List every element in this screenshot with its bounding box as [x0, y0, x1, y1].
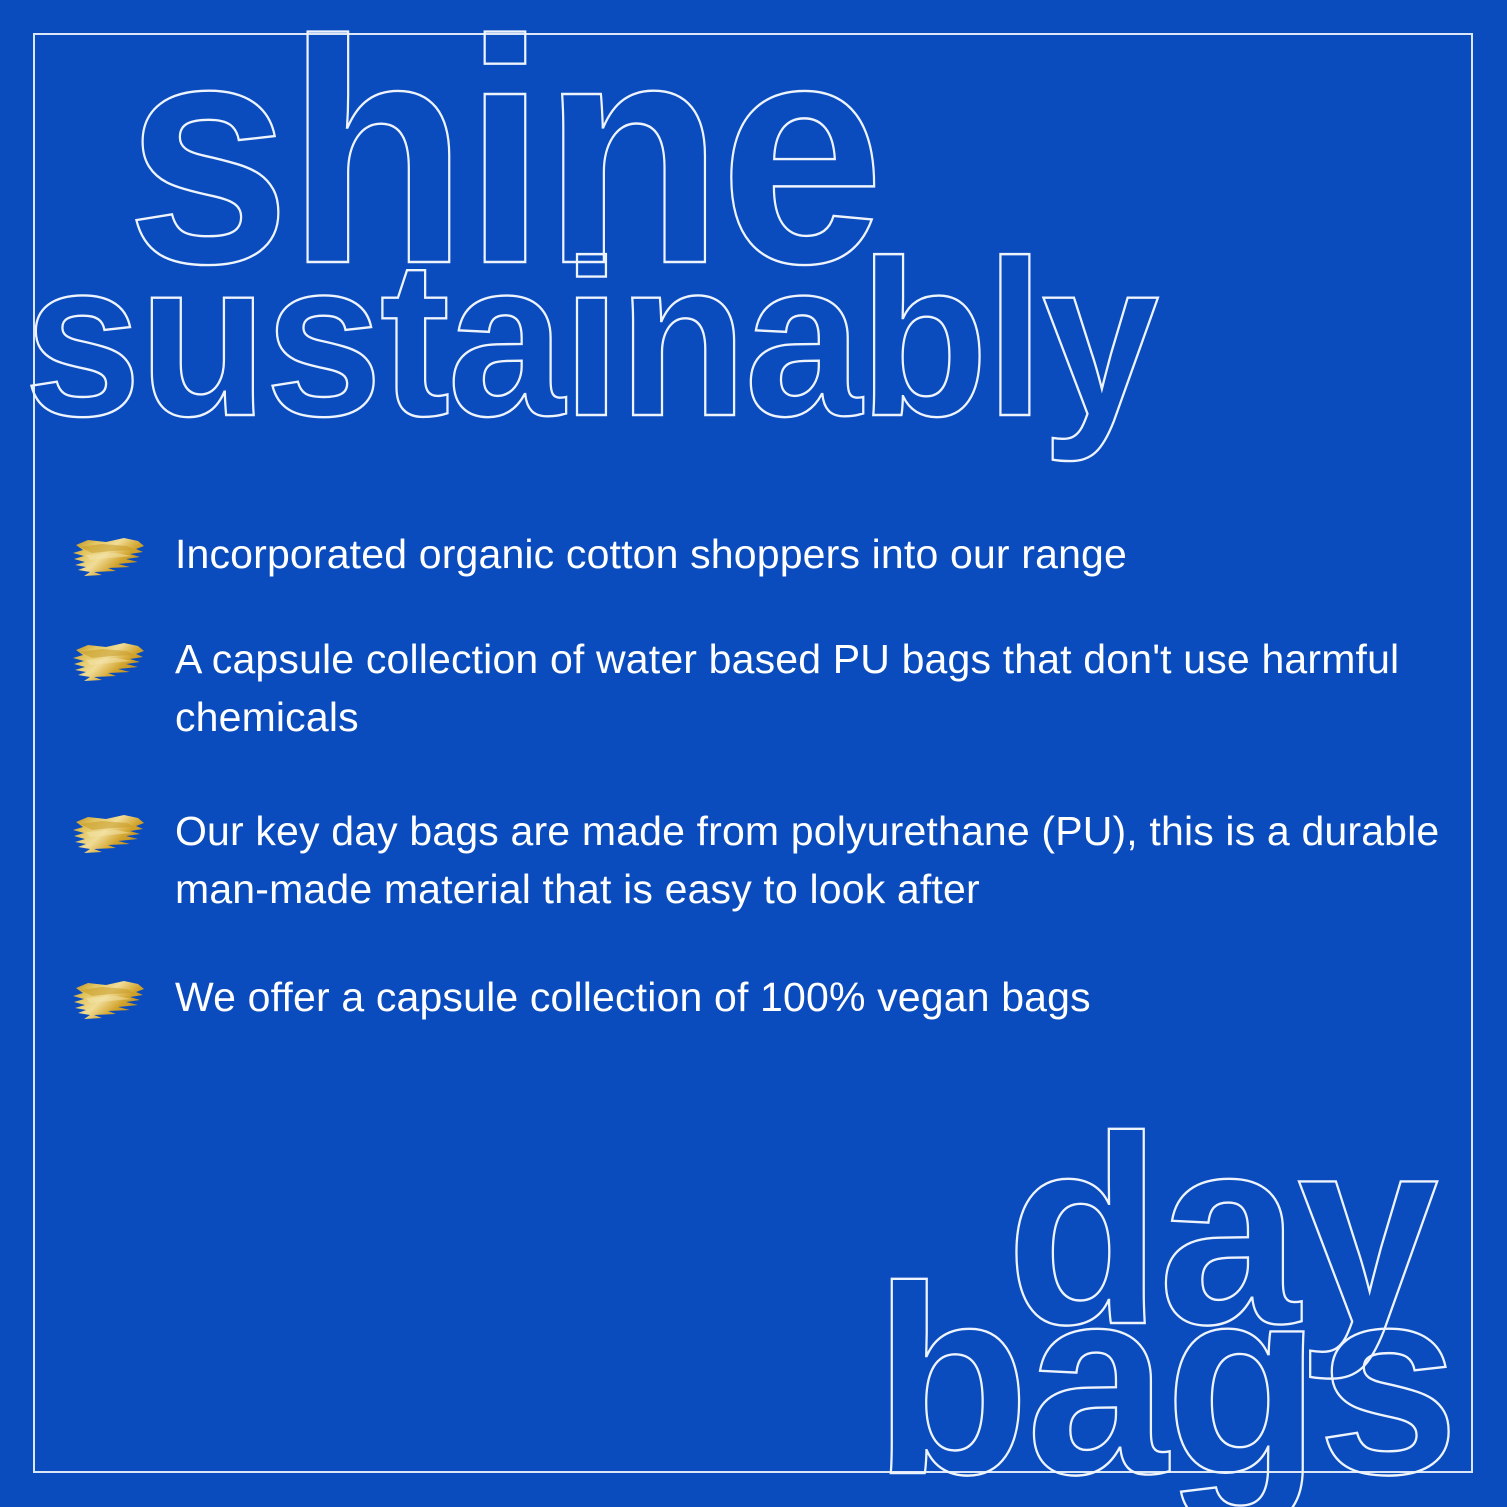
- headline-line-sustainably: sustainably: [24, 228, 1157, 450]
- list-item: We offer a capsule collection of 100% ve…: [72, 968, 1452, 1026]
- list-item-label: A capsule collection of water based PU b…: [175, 630, 1445, 746]
- list-item-label: Our key day bags are made from polyureth…: [175, 802, 1445, 918]
- sustainability-poster: shine sustainably: [0, 0, 1507, 1507]
- footer-headline-line-bags: bags: [874, 1246, 1456, 1507]
- gold-brush-stroke-icon: [72, 535, 148, 581]
- list-item-label: We offer a capsule collection of 100% ve…: [175, 968, 1091, 1026]
- list-item: Our key day bags are made from polyureth…: [72, 802, 1452, 918]
- list-item: Incorporated organic cotton shoppers int…: [72, 525, 1452, 583]
- list-item: A capsule collection of water based PU b…: [72, 630, 1452, 746]
- gold-brush-stroke-icon: [72, 978, 148, 1024]
- gold-brush-stroke-icon: [72, 812, 148, 858]
- list-item-label: Incorporated organic cotton shoppers int…: [175, 525, 1127, 583]
- gold-brush-stroke-icon: [72, 640, 148, 686]
- sustainability-bullet-list: Incorporated organic cotton shoppers int…: [72, 525, 1452, 1026]
